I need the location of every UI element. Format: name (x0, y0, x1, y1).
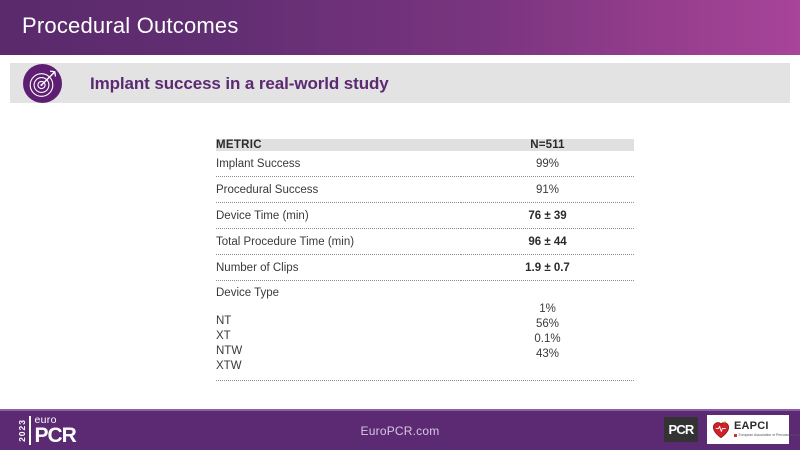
row-label: Procedural Success (216, 177, 461, 203)
group-item-label: NT (216, 314, 461, 329)
eapci-subtitle: European Association of Percutaneous Car… (739, 434, 800, 437)
group-item-label: NTW (216, 344, 461, 359)
group-title: Device Type (216, 287, 461, 299)
eapci-name: EAPCI (734, 421, 800, 432)
eapci-square-icon (734, 434, 737, 437)
group-cell-labels: Device Type NT XT NTW XTW (216, 281, 461, 381)
group-item-label: XTW (216, 359, 461, 374)
group-item-value: 56% (461, 317, 634, 332)
row-value: 1.9 ± 0.7 (461, 255, 634, 281)
column-header-metric: METRIC (216, 139, 461, 151)
group-item-value: 1% (461, 302, 634, 317)
table-row-device-type: Device Type NT XT NTW XTW 1% 56% 0.1% 43… (216, 281, 634, 381)
row-label: Device Time (min) (216, 203, 461, 229)
row-label: Implant Success (216, 151, 461, 177)
group-cell-values: 1% 56% 0.1% 43% (461, 281, 634, 381)
pcr-badge-logo: PCR (664, 417, 698, 442)
row-value: 96 ± 44 (461, 229, 634, 255)
target-icon-badge (23, 64, 62, 103)
group-value-spacer (461, 287, 634, 302)
group-item-value: 43% (461, 347, 634, 362)
eapci-logo: EAPCI European Association of Percutaneo… (707, 415, 789, 444)
column-header-n: N=511 (461, 139, 634, 151)
row-label: Total Procedure Time (min) (216, 229, 461, 255)
table-row: Device Time (min) 76 ± 39 (216, 203, 634, 229)
heart-icon (711, 420, 731, 440)
pcr-badge-text: PCR (668, 422, 693, 437)
eapci-subtitle-row: European Association of Percutaneous Car… (734, 432, 800, 437)
row-value: 76 ± 39 (461, 203, 634, 229)
row-value: 91% (461, 177, 634, 203)
table-header-row: METRIC N=511 (216, 139, 634, 151)
group-item-label: XT (216, 329, 461, 344)
row-label: Number of Clips (216, 255, 461, 281)
metrics-table: METRIC N=511 Implant Success 99% Procedu… (216, 139, 634, 381)
table-row: Procedural Success 91% (216, 177, 634, 203)
table-row: Total Procedure Time (min) 96 ± 44 (216, 229, 634, 255)
table-row: Implant Success 99% (216, 151, 634, 177)
subtitle-text: Implant success in a real-world study (90, 74, 389, 94)
row-value: 99% (461, 151, 634, 177)
target-icon (23, 64, 62, 103)
group-item-value: 0.1% (461, 332, 634, 347)
page-title: Procedural Outcomes (22, 13, 239, 39)
table-row: Number of Clips 1.9 ± 0.7 (216, 255, 634, 281)
